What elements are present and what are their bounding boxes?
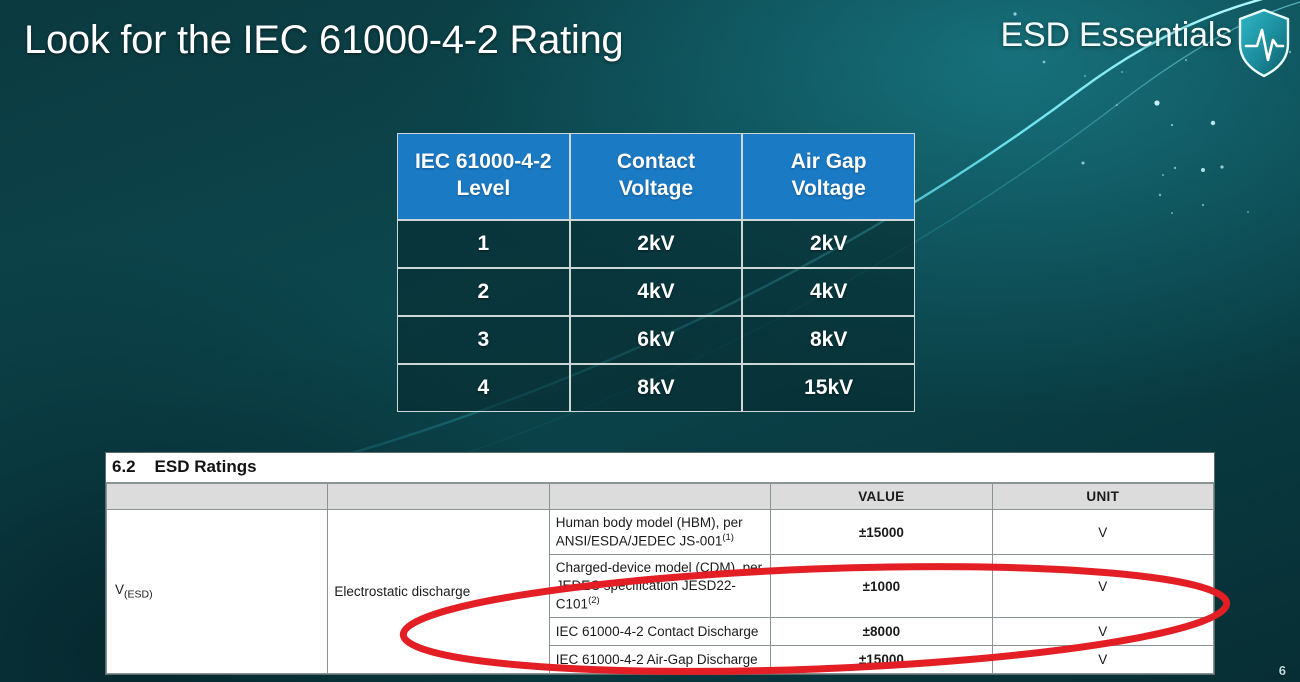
esd-ratings-table: VALUE UNIT V(ESD) Electrostatic discharg… xyxy=(106,483,1214,674)
iec-contact-value: 4kV xyxy=(570,268,743,316)
esd-description-cdm-line1: Charged-device model (CDM), per JEDEC sp… xyxy=(556,560,762,593)
page-number: 6 xyxy=(1279,663,1286,678)
esd-description-cdm-line2: C101 xyxy=(556,596,588,611)
esd-header-description-blank xyxy=(549,484,770,510)
shield-pulse-icon xyxy=(1238,8,1290,78)
slide-canvas: Look for the IEC 61000-4-2 Rating ESD Es… xyxy=(0,0,1300,682)
esd-description-contact: IEC 61000-4-2 Contact Discharge xyxy=(549,618,770,646)
iec-header-level: IEC 61000-4-2 Level xyxy=(397,133,570,220)
iec-level-value: 4 xyxy=(397,364,570,412)
iec-airgap-value: 2kV xyxy=(742,220,915,268)
iec-airgap-value: 4kV xyxy=(742,268,915,316)
iec-header-airgap-line2: Voltage xyxy=(792,177,866,200)
esd-table-header-row: VALUE UNIT xyxy=(107,484,1214,510)
esd-description-cdm: Charged-device model (CDM), per JEDEC sp… xyxy=(549,555,770,618)
table-row: 3 6kV 8kV xyxy=(397,316,915,364)
esd-description-airgap: IEC 61000-4-2 Air-Gap Discharge xyxy=(549,646,770,674)
iec-table-header-row: IEC 61000-4-2 Level Contact Voltage Air … xyxy=(397,133,915,220)
iec-level-value: 1 xyxy=(397,220,570,268)
esd-symbol-base: V xyxy=(115,582,124,597)
esd-header-parameter-blank xyxy=(328,484,549,510)
iec-header-airgap: Air Gap Voltage xyxy=(742,133,915,220)
iec-header-contact-line1: Contact xyxy=(617,150,695,173)
table-row: 2 4kV 4kV xyxy=(397,268,915,316)
iec-contact-value: 8kV xyxy=(570,364,743,412)
esd-value-cdm: ±1000 xyxy=(771,555,992,618)
iec-header-level-line1: IEC 61000-4-2 xyxy=(415,150,552,173)
brand-label: ESD Essentials xyxy=(1000,16,1232,55)
brand-lockup: ESD Essentials xyxy=(1000,8,1290,78)
esd-unit-airgap: V xyxy=(992,646,1213,674)
iec-level-value: 3 xyxy=(397,316,570,364)
iec-contact-value: 6kV xyxy=(570,316,743,364)
table-row: 4 8kV 15kV xyxy=(397,364,915,412)
esd-header-value: VALUE xyxy=(771,484,992,510)
esd-symbol-subscript: (ESD) xyxy=(124,589,153,601)
esd-description-hbm: Human body model (HBM), per ANSI/ESDA/JE… xyxy=(549,510,770,555)
iec-header-level-line2: Level xyxy=(456,177,510,200)
iec-contact-value: 2kV xyxy=(570,220,743,268)
esd-header-unit: UNIT xyxy=(992,484,1213,510)
iec-header-airgap-line1: Air Gap xyxy=(791,150,867,173)
table-row: 1 2kV 2kV xyxy=(397,220,915,268)
table-row: V(ESD) Electrostatic discharge Human bod… xyxy=(107,510,1214,555)
iec-airgap-value: 15kV xyxy=(742,364,915,412)
esd-value-airgap: ±15000 xyxy=(771,646,992,674)
esd-parameter-cell: Electrostatic discharge xyxy=(328,510,549,674)
esd-unit-cdm: V xyxy=(992,555,1213,618)
esd-footnote-2: (2) xyxy=(588,595,600,606)
esd-unit-hbm: V xyxy=(992,510,1213,555)
page-title: Look for the IEC 61000-4-2 Rating xyxy=(24,18,623,63)
esd-header-symbol-blank xyxy=(107,484,328,510)
esd-value-hbm: ±15000 xyxy=(771,510,992,555)
iec-airgap-value: 8kV xyxy=(742,316,915,364)
esd-unit-contact: V xyxy=(992,618,1213,646)
iec-header-contact: Contact Voltage xyxy=(570,133,743,220)
iec-level-value: 2 xyxy=(397,268,570,316)
iec-level-table: IEC 61000-4-2 Level Contact Voltage Air … xyxy=(397,133,915,412)
esd-value-contact: ±8000 xyxy=(771,618,992,646)
datasheet-section-heading: 6.2 ESD Ratings xyxy=(106,453,1214,483)
datasheet-excerpt: 6.2 ESD Ratings VALUE UNIT V(ESD) Electr… xyxy=(105,452,1215,675)
esd-symbol-cell: V(ESD) xyxy=(107,510,328,674)
esd-description-hbm-text: Human body model (HBM), per ANSI/ESDA/JE… xyxy=(556,515,743,548)
esd-footnote-1: (1) xyxy=(722,532,734,543)
iec-header-contact-line2: Voltage xyxy=(619,177,693,200)
